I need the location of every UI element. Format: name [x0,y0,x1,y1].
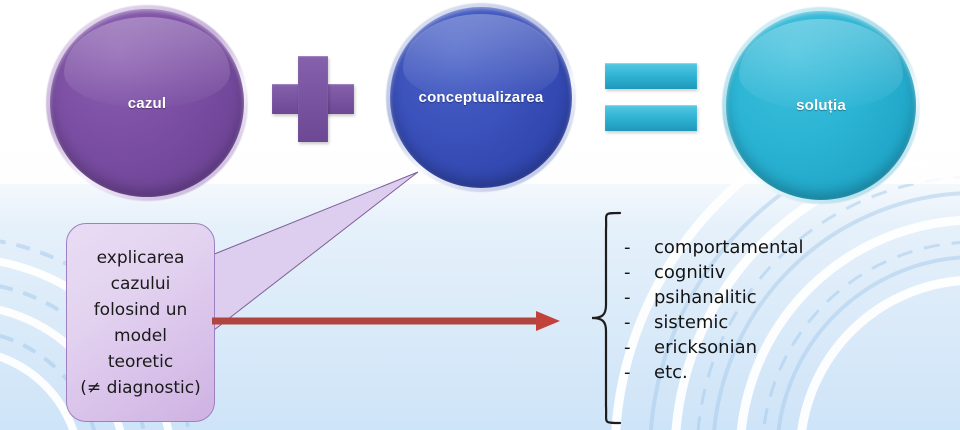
callout-box[interactable]: explicarea cazului folosind un model teo… [66,223,215,422]
list-item: - sistemic [624,312,904,337]
list-item-bullet: - [624,237,654,258]
curly-brace-icon [588,210,624,426]
case-circle-gloss [64,17,231,107]
equals-icon-top-bar [605,63,697,89]
list-item: - comportamental [624,237,904,262]
list-item-label: cognitiv [654,262,725,283]
red-arrow-icon [210,308,560,334]
outcome-list: - comportamental - cognitiv - psihanalit… [624,237,904,387]
solution-circle-gloss [739,19,902,110]
node-solutia[interactable]: soluția [726,11,916,200]
plus-icon [272,56,354,142]
equals-icon-bottom-bar [605,105,697,131]
node-conceptualizarea[interactable]: conceptualizarea [390,7,572,188]
node-cazul-label: cazul [128,95,167,112]
callout-text: explicarea cazului folosind un model teo… [80,245,200,401]
node-cazul[interactable]: cazul [50,9,244,197]
list-item-label: sistemic [654,312,728,333]
list-item-bullet: - [624,337,654,358]
list-item: - etc. [624,362,904,387]
list-item-bullet: - [624,312,654,333]
plus-icon-vertical-bar [298,56,328,142]
list-item-bullet: - [624,262,654,283]
equals-icon [605,63,697,131]
list-item: - cognitiv [624,262,904,287]
list-item-label: ericksonian [654,337,757,358]
list-item: - psihanalitic [624,287,904,312]
list-item-label: comportamental [654,237,803,258]
list-item-bullet: - [624,362,654,383]
list-item-label: psihanalitic [654,287,757,308]
node-conceptualizarea-label: conceptualizarea [419,89,544,106]
slide-canvas: cazul conceptualizarea soluția explicare… [0,0,960,430]
node-solutia-label: soluția [796,97,846,114]
list-item-bullet: - [624,287,654,308]
list-item-label: etc. [654,362,688,383]
list-item: - ericksonian [624,337,904,362]
